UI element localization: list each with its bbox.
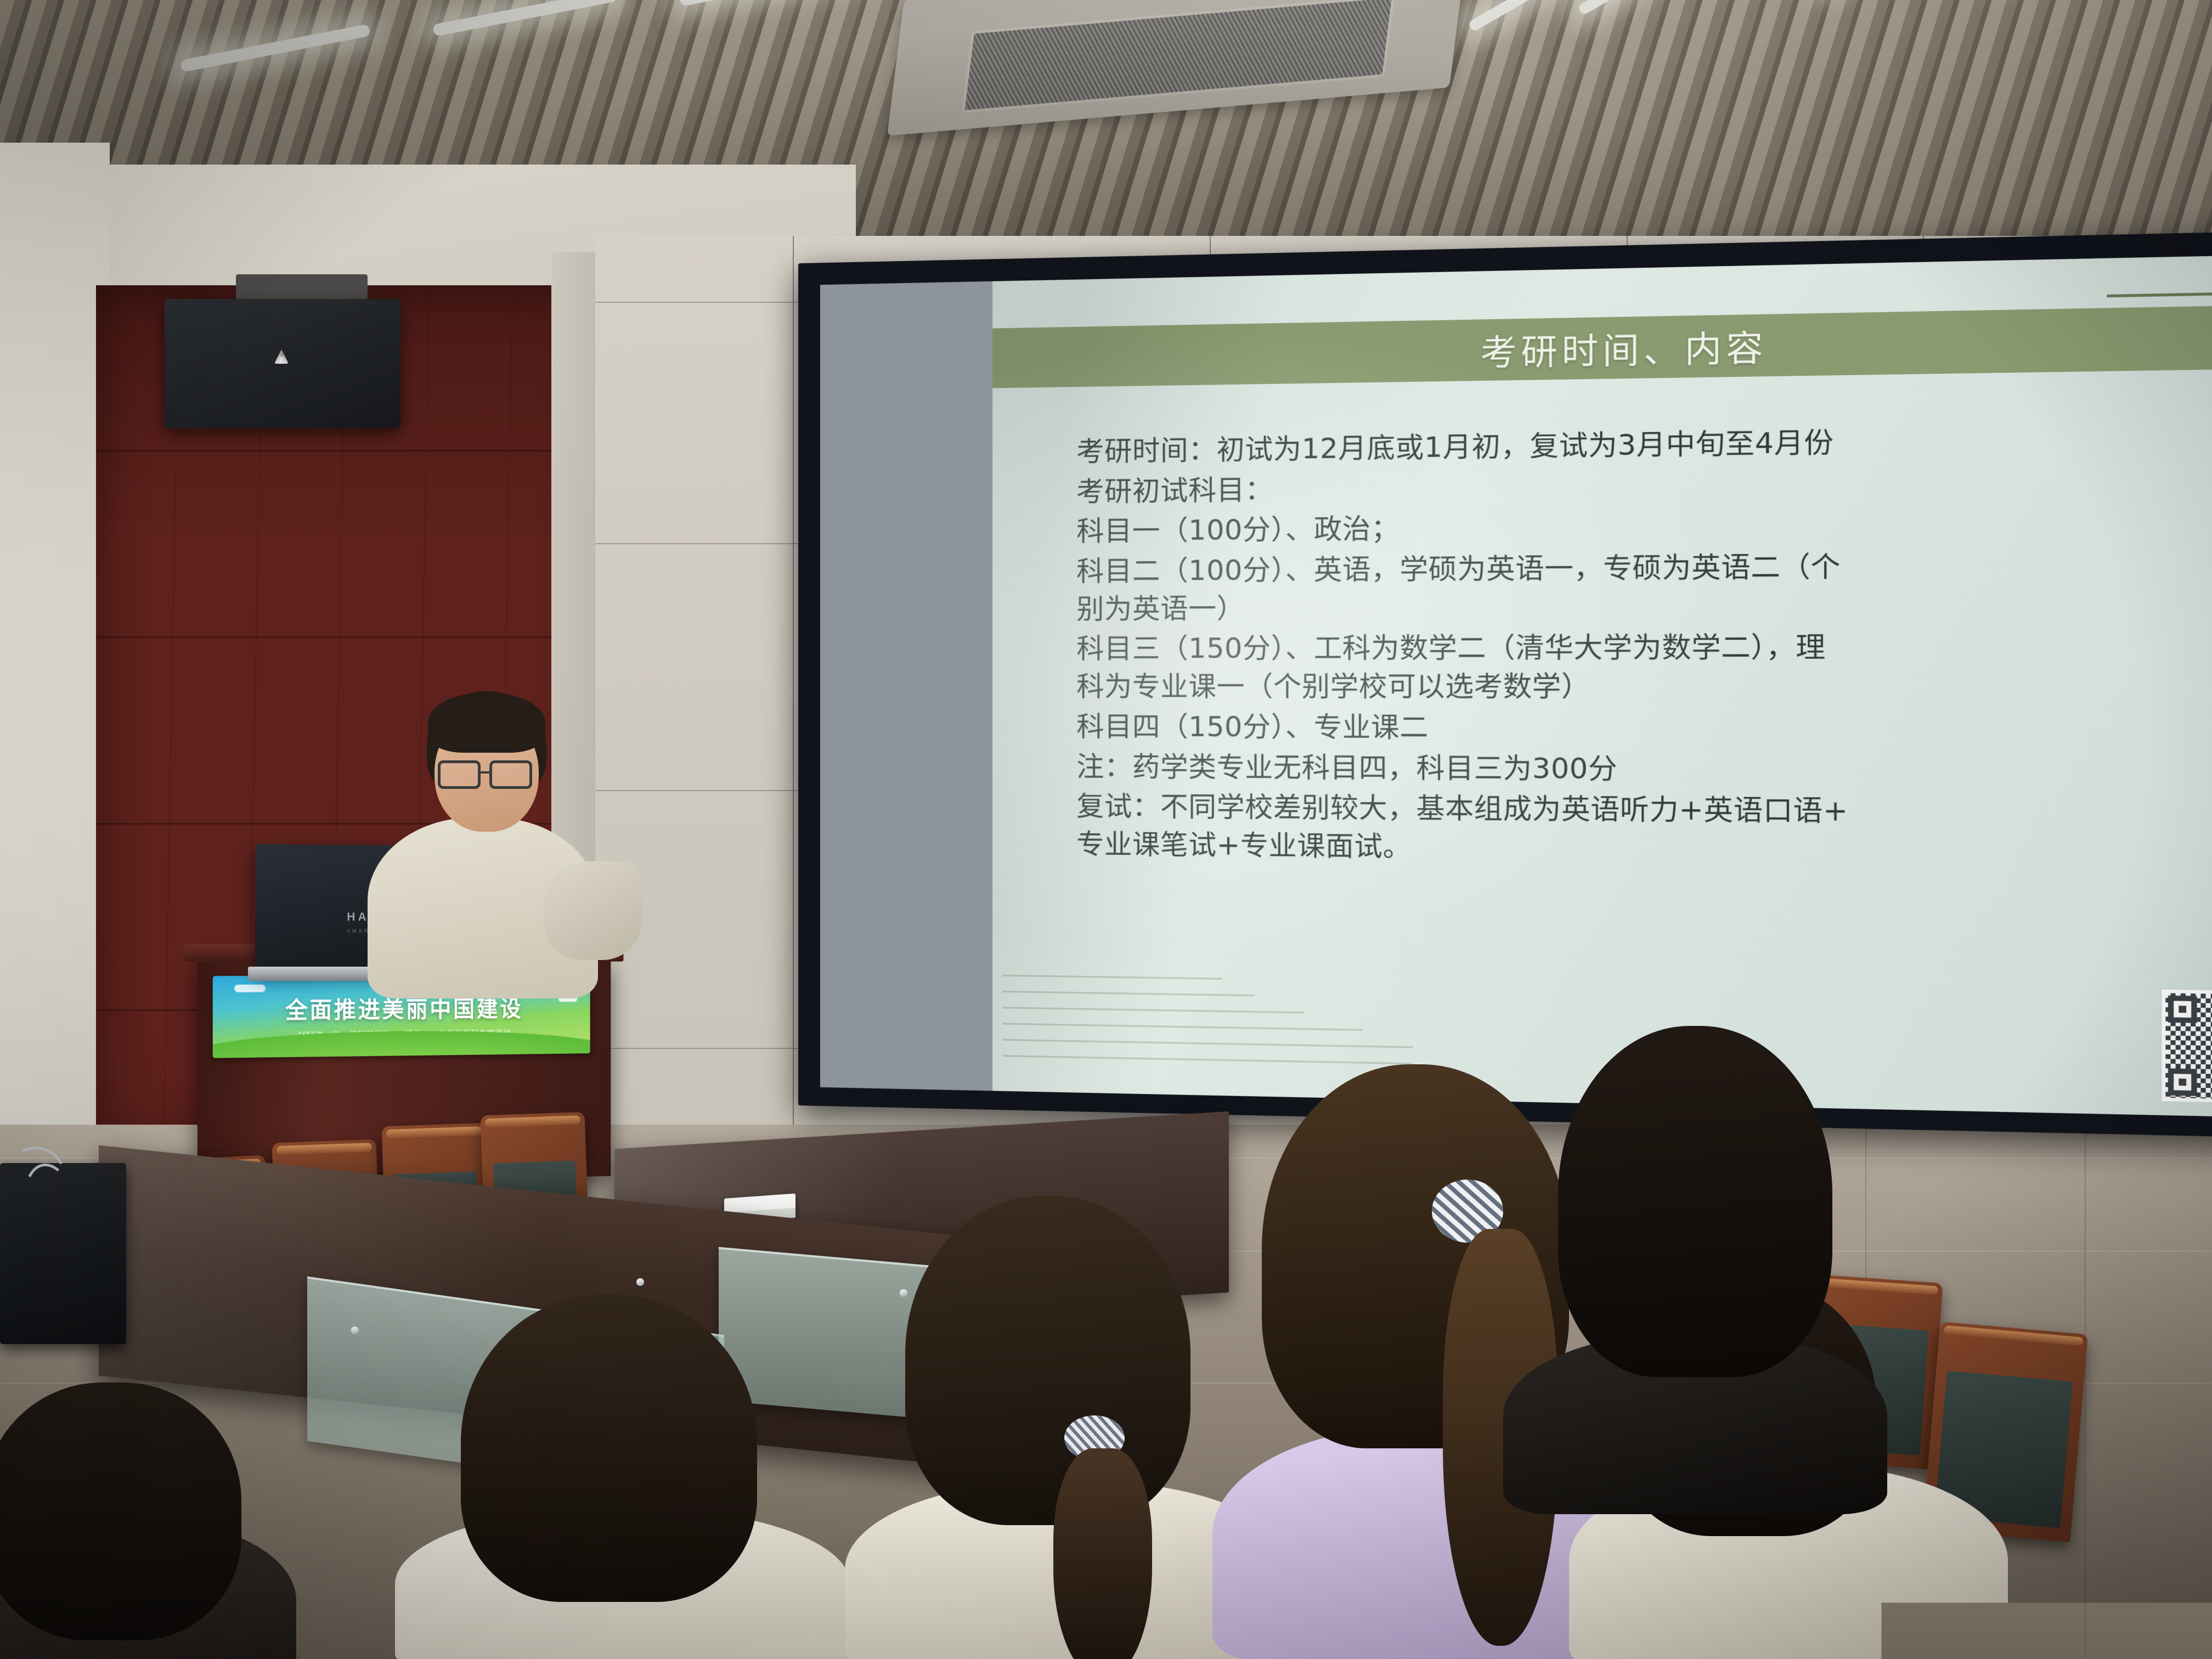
audience-member-3 [872, 1196, 1256, 1659]
slide-line-8: 科目四（150分）、专业课二 [1076, 709, 2212, 748]
slide-line-7: 科为专业课一（个别学校可以选考数学） [1076, 668, 2212, 706]
presenter-arm [543, 861, 642, 960]
audience-3-hair [905, 1196, 1190, 1525]
audience-member-2 [417, 1295, 823, 1659]
slide-decorative-lines [1002, 975, 1413, 1080]
slide-title: 考研时间、内容 [1480, 319, 1767, 376]
chair-top-rail [485, 1115, 580, 1127]
presenter-glasses-bridge [481, 771, 490, 774]
slide: 考研时间、内容 考研时间：初试为12月底或1月初，复试为3月中旬至4月份 考研初… [992, 255, 2212, 1118]
audience-member-1 [0, 1383, 318, 1659]
projection-screen-surface: 考研时间、内容 考研时间：初试为12月底或1月初，复试为3月中旬至4月份 考研初… [820, 255, 2212, 1118]
chair-top-rail [386, 1126, 482, 1138]
audience-2-hair [461, 1295, 757, 1602]
lecture-hall-photo: 考研时间、内容 考研时间：初试为12月底或1月初，复试为3月中旬至4月份 考研初… [0, 0, 2212, 1659]
slide-line-2: 考研初试科目： [1076, 461, 2212, 510]
wall-left-white [0, 143, 110, 1185]
audience-6-hair [1558, 1026, 1832, 1377]
presenter-glasses-right-lens [489, 760, 532, 789]
presenter [362, 680, 647, 988]
wall-speaker [165, 299, 400, 428]
glass-stud-1 [351, 1327, 359, 1334]
slide-line-9: 注：药学类专业无科目四，科目三为300分 [1076, 749, 2212, 791]
chair-top-rail [276, 1143, 372, 1155]
audience-3-ponytail [1053, 1448, 1152, 1659]
slide-line-6: 科目三（150分）、工科为数学二（清华大学为数学二），理 [1076, 628, 2212, 667]
slide-title-rule [2107, 292, 2212, 297]
slide-line-5: 别为英语一） [1076, 586, 2212, 627]
qr-finder-top-left [2168, 996, 2197, 1023]
slide-line-4: 科目二（100分）、英语，学硕为英语一，专硕为英语二（个 [1076, 546, 2212, 589]
slide-title-band: 考研时间、内容 [992, 304, 2212, 388]
presenter-glasses-left-lens [438, 760, 481, 789]
audience-1-hair [0, 1383, 241, 1640]
slide-line-1: 考研时间：初试为12月底或1月初，复试为3月中旬至4月份 [1076, 419, 2212, 470]
presenter-fringe [428, 692, 545, 753]
glass-stud-2 [636, 1278, 644, 1286]
projection-screen: 考研时间、内容 考研时间：初试为12月底或1月初，复试为3月中旬至4月份 考研初… [798, 230, 2212, 1139]
slide-line-10: 复试：不同学校差别较大，基本组成为英语听力+英语口语+ [1076, 789, 2212, 833]
qr-finder-bottom-left [2168, 1068, 2197, 1096]
banner-cloud-1 [234, 985, 266, 992]
slide-line-3: 科目一（100分）、政治； [1076, 504, 2212, 549]
slide-line-11: 专业课笔试+专业课面试。 [1076, 827, 2212, 873]
banner-hill-graphic [213, 1029, 590, 1058]
qr-code-icon [2162, 990, 2212, 1104]
audience-member-6 [1514, 1026, 1865, 1509]
slide-body: 考研时间：初试为12月底或1月初，复试为3月中旬至4月份 考研初试科目： 科目一… [1076, 419, 2212, 877]
